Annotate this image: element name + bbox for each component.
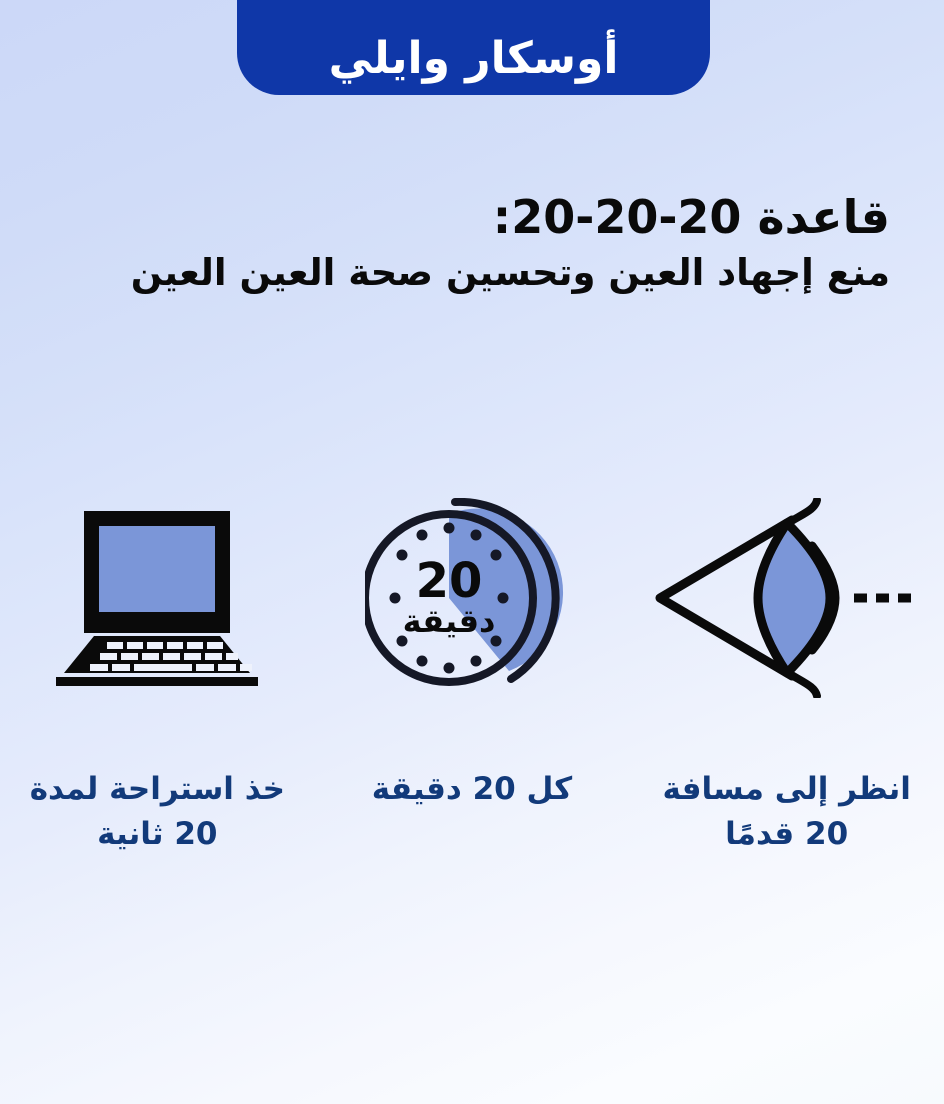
steps-row: انظر إلى مسافة 20 قدمًا [0, 490, 944, 890]
banner-title: أوسكار وايلي [329, 35, 619, 83]
eye-distance-icon [652, 498, 922, 698]
step-look-away: انظر إلى مسافة 20 قدمًا [629, 490, 944, 890]
clock-20-minutes-icon: 20 دقيقة [365, 498, 580, 698]
laptop-icon [32, 505, 282, 690]
eye-icon-wrap [652, 490, 922, 705]
clock-unit: دقيقة [402, 602, 495, 640]
step-every-20-min: 20 دقيقة كل 20 دقيقة [315, 490, 630, 890]
step-caption-every-20-min: كل 20 دقيقة [372, 767, 572, 812]
headline-block: قاعدة 20-20-20: منع إجهاد العين وتحسين ص… [44, 190, 890, 296]
clock-icon-wrap: 20 دقيقة [365, 490, 580, 705]
infographic-poster: أوسكار وايلي قاعدة 20-20-20: منع إجهاد ا… [0, 0, 944, 1104]
step-take-break: خذ استراحة لمدة 20 ثانية [0, 490, 315, 890]
step-caption-take-break: خذ استراحة لمدة 20 ثانية [12, 767, 302, 857]
page-title: قاعدة 20-20-20: [44, 190, 890, 244]
header-banner: أوسكار وايلي [237, 0, 710, 95]
step-caption-look-away: انظر إلى مسافة 20 قدمًا [637, 767, 937, 857]
page-subtitle: منع إجهاد العين وتحسين صحة العين العين [44, 250, 890, 296]
clock-number: 20 [415, 553, 482, 609]
laptop-icon-wrap [32, 490, 282, 705]
